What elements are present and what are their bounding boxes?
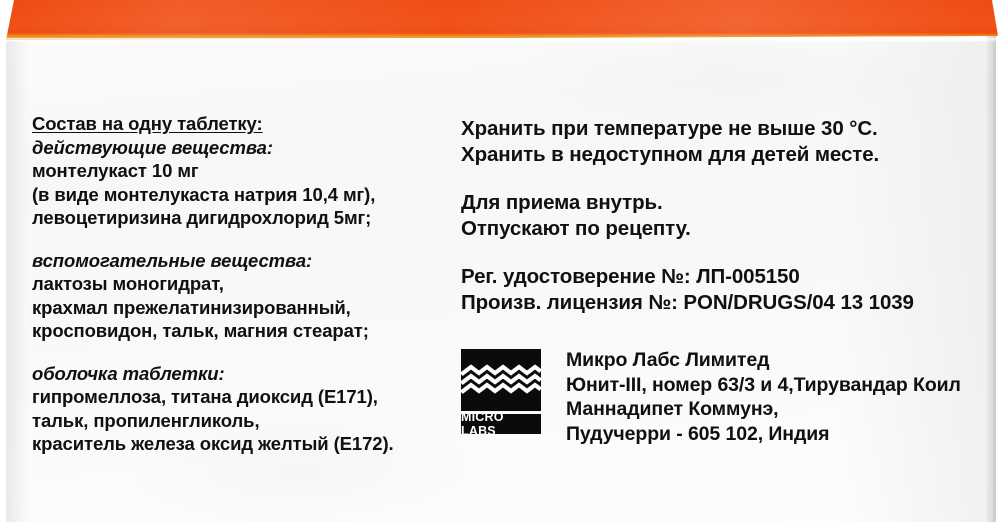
usage-line: Для приема внутрь. (461, 190, 981, 216)
active-substance-line: (в виде монтелукаста натрия 10,4 мг), (32, 183, 452, 207)
manufacturer-address-line: Маннадипет Коммунэ, (566, 397, 961, 422)
active-substance-line: левоцетиризина дигидрохлорид 5мг; (32, 206, 452, 230)
manufacturer-address-line: Пудучерри - 605 102, Индия (566, 422, 961, 447)
excipient-line: крахмал прежелатинизированный, (32, 296, 452, 320)
paragraph-gap (32, 230, 452, 249)
storage-line: Хранить в недоступном для детей месте. (461, 142, 981, 168)
medicine-carton: Состав на одну таблетку: действующие вещ… (0, 0, 1000, 522)
carton-orange-top-face (0, 0, 1000, 40)
manufacturer-address-line: Юнит-III, номер 63/3 и 4,Тирувандар Коил (566, 373, 961, 398)
carton-top-edge-highlight (4, 38, 998, 42)
micro-labs-wordmark: MICRO LABS (461, 414, 541, 434)
excipient-line: лактозы моногидрат, (32, 272, 452, 296)
manufacturer-name: Микро Лабс Лимитед (566, 348, 961, 373)
coating-label: оболочка таблетки: (32, 362, 452, 386)
active-substances-label: действующие вещества: (32, 136, 452, 160)
excipient-line: кросповидон, тальк, магния стеарат; (32, 319, 452, 343)
composition-heading: Состав на одну таблетку: (32, 112, 452, 136)
paragraph-gap (461, 242, 981, 264)
paragraph-gap (461, 168, 981, 190)
carton-right-edge (993, 34, 996, 522)
instructions-block: Хранить при температуре не выше 30 °С. Х… (461, 116, 981, 316)
storage-line: Хранить при температуре не выше 30 °С. (461, 116, 981, 142)
waves-icon (461, 349, 541, 411)
coating-line: краситель железа оксид желтый (Е172). (32, 432, 452, 456)
coating-line: гипромеллоза, титана диоксид (Е171), (32, 385, 452, 409)
coating-line: тальк, пропиленгликоль, (32, 409, 452, 433)
registration-certificate-line: Рег. удостоверение №: ЛП-005150 (461, 264, 981, 290)
composition-block: Состав на одну таблетку: действующие вещ… (32, 112, 452, 456)
manufacturer-block: MICRO LABS Микро Лабс Лимитед Юнит-III, … (461, 347, 961, 446)
manufacturer-address: Микро Лабс Лимитед Юнит-III, номер 63/3 … (566, 347, 961, 446)
paragraph-gap (32, 343, 452, 362)
micro-labs-logo: MICRO LABS (461, 349, 541, 434)
excipients-label: вспомогательные вещества: (32, 249, 452, 273)
active-substance-line: монтелукаст 10 мг (32, 159, 452, 183)
usage-line: Отпускают по рецепту. (461, 216, 981, 242)
manufacturing-license-line: Произв. лицензия №: PON/DRUGS/04 13 1039 (461, 290, 981, 316)
